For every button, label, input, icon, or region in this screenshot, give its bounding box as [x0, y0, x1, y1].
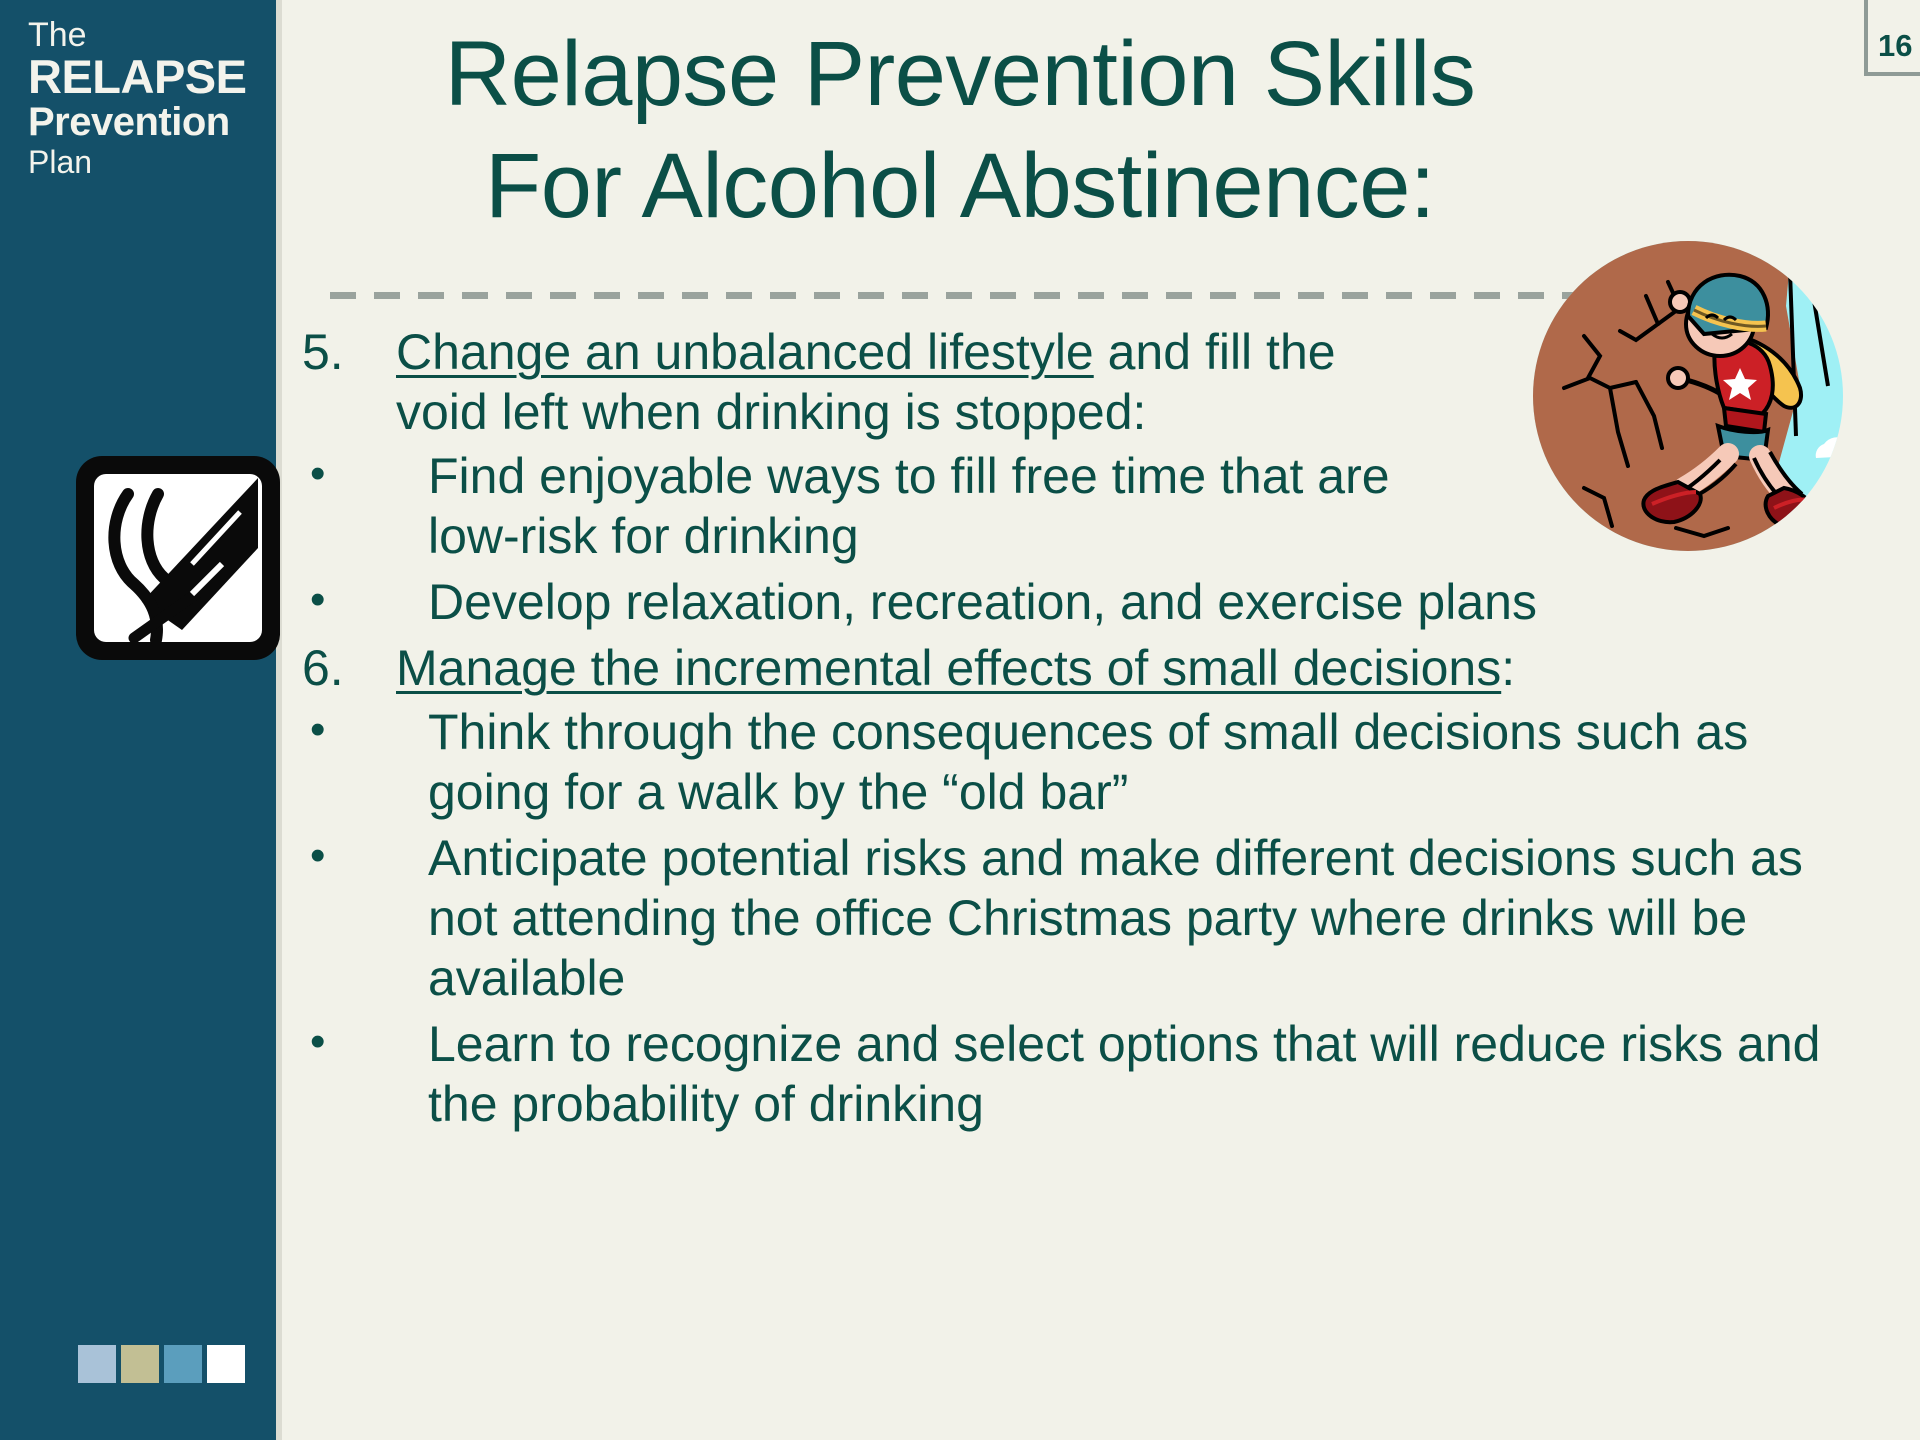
- pen-nib-icon: [72, 452, 284, 664]
- swatch-1: [78, 1345, 116, 1383]
- page-title: Relapse Prevention Skills For Alcohol Ab…: [300, 18, 1620, 242]
- dashed-divider: [330, 292, 1580, 299]
- rail-edge-divider: [276, 0, 282, 1440]
- brand-logo: The RELAPSE Prevention Plan: [28, 18, 258, 181]
- list-item: • Anticipate potential risks and make di…: [288, 828, 1848, 1008]
- list-item-text: Change an unbalanced lifestyle and fill …: [396, 322, 1396, 442]
- list-item: 5. Change an unbalanced lifestyle and fi…: [288, 322, 1848, 442]
- swatch-3: [164, 1345, 202, 1383]
- title-line-1: Relapse Prevention Skills: [300, 18, 1620, 130]
- list-item-underlined: Change an unbalanced lifestyle: [396, 324, 1094, 380]
- list-item: 6. Manage the incremental effects of sma…: [288, 638, 1848, 698]
- list-item-underlined: Manage the incremental effects of small …: [396, 640, 1501, 696]
- brand-rail: [0, 0, 276, 1440]
- list-item: • Find enjoyable ways to fill free time …: [288, 446, 1848, 566]
- list-item-text: Find enjoyable ways to fill free time th…: [428, 446, 1428, 566]
- list-item-text: Learn to recognize and select options th…: [428, 1014, 1848, 1134]
- brand-plan: Plan: [28, 144, 258, 181]
- brand-the: The: [28, 18, 258, 52]
- bullet-marker: •: [288, 828, 428, 884]
- list-item-text: Anticipate potential risks and make diff…: [428, 828, 1848, 1008]
- slide: The RELAPSE Prevention Plan: [0, 0, 1920, 1440]
- bullet-marker: •: [288, 446, 428, 502]
- swatch-4: [207, 1345, 245, 1383]
- swatch-2: [121, 1345, 159, 1383]
- list-item-text: Think through the consequences of small …: [428, 702, 1848, 822]
- bullet-marker: •: [288, 702, 428, 758]
- brand-relapse: RELAPSE: [28, 53, 258, 101]
- list-item-text: Develop relaxation, recreation, and exer…: [428, 572, 1848, 632]
- list-item: • Think through the consequences of smal…: [288, 702, 1848, 822]
- title-line-2: For Alcohol Abstinence:: [300, 130, 1620, 242]
- brand-color-swatches: [78, 1345, 245, 1383]
- body-list: 5. Change an unbalanced lifestyle and fi…: [288, 322, 1848, 1140]
- list-marker: 5.: [288, 322, 396, 382]
- list-item: • Learn to recognize and select options …: [288, 1014, 1848, 1134]
- list-item-rest: :: [1501, 640, 1515, 696]
- list-item: • Develop relaxation, recreation, and ex…: [288, 572, 1848, 632]
- bullet-marker: •: [288, 572, 428, 628]
- list-item-text: Manage the incremental effects of small …: [396, 638, 1546, 698]
- list-marker: 6.: [288, 638, 396, 698]
- page-number: 16: [1878, 28, 1912, 64]
- bullet-marker: •: [288, 1014, 428, 1070]
- brand-prevention: Prevention: [28, 101, 258, 143]
